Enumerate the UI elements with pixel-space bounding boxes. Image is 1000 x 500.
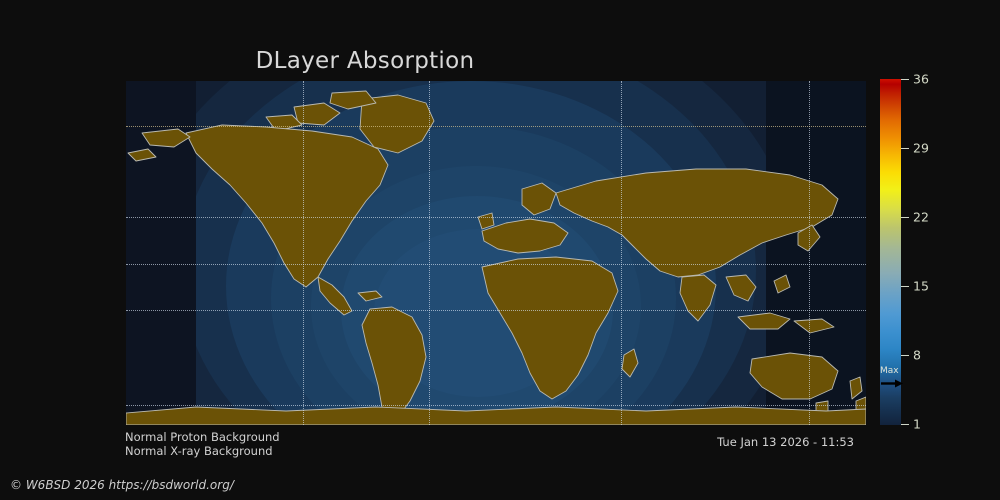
timestamp: Tue Jan 13 2026 - 11:53 xyxy=(717,435,854,449)
world-map-panel[interactable] xyxy=(126,81,866,425)
gridline-lat-tropic-n xyxy=(126,217,866,218)
continent-outlines xyxy=(126,81,866,425)
gridline-lat-equator xyxy=(126,264,866,265)
note-xray-background: Normal X-ray Background xyxy=(125,444,273,458)
note-proton-background: Normal Proton Background xyxy=(125,430,280,444)
colorbar-tick-29 xyxy=(901,148,909,149)
colorbar-axis-label: Affected Frequency (MHz) xyxy=(918,79,1000,425)
map-inner xyxy=(126,81,866,425)
gridline-lon-60e xyxy=(809,81,810,425)
gridline-lat-tropic-s xyxy=(126,310,866,311)
colorbar-tick-8 xyxy=(901,355,909,356)
max-arrow-icon xyxy=(881,379,903,388)
gridline-lat-antarctic xyxy=(126,405,866,406)
credit-line: © W6BSD 2026 https://bsdworld.org/ xyxy=(10,478,234,492)
colorbar-max-marker: Max xyxy=(879,366,905,392)
colorbar-tick-36 xyxy=(901,79,909,80)
dlayer-absorption-figure: DLayer Absorption xyxy=(0,0,1000,500)
max-marker-label: Max xyxy=(880,366,899,376)
colorbar-tick-22 xyxy=(901,217,909,218)
gridline-lon-0 xyxy=(621,81,622,425)
colorbar-tick-15 xyxy=(901,286,909,287)
colorbar-tick-1 xyxy=(901,424,909,425)
gridline-lon-120w xyxy=(303,81,304,425)
page-title: DLayer Absorption xyxy=(0,48,730,74)
gridline-lon-60w xyxy=(429,81,430,425)
gridline-lat-arctic xyxy=(126,126,866,127)
